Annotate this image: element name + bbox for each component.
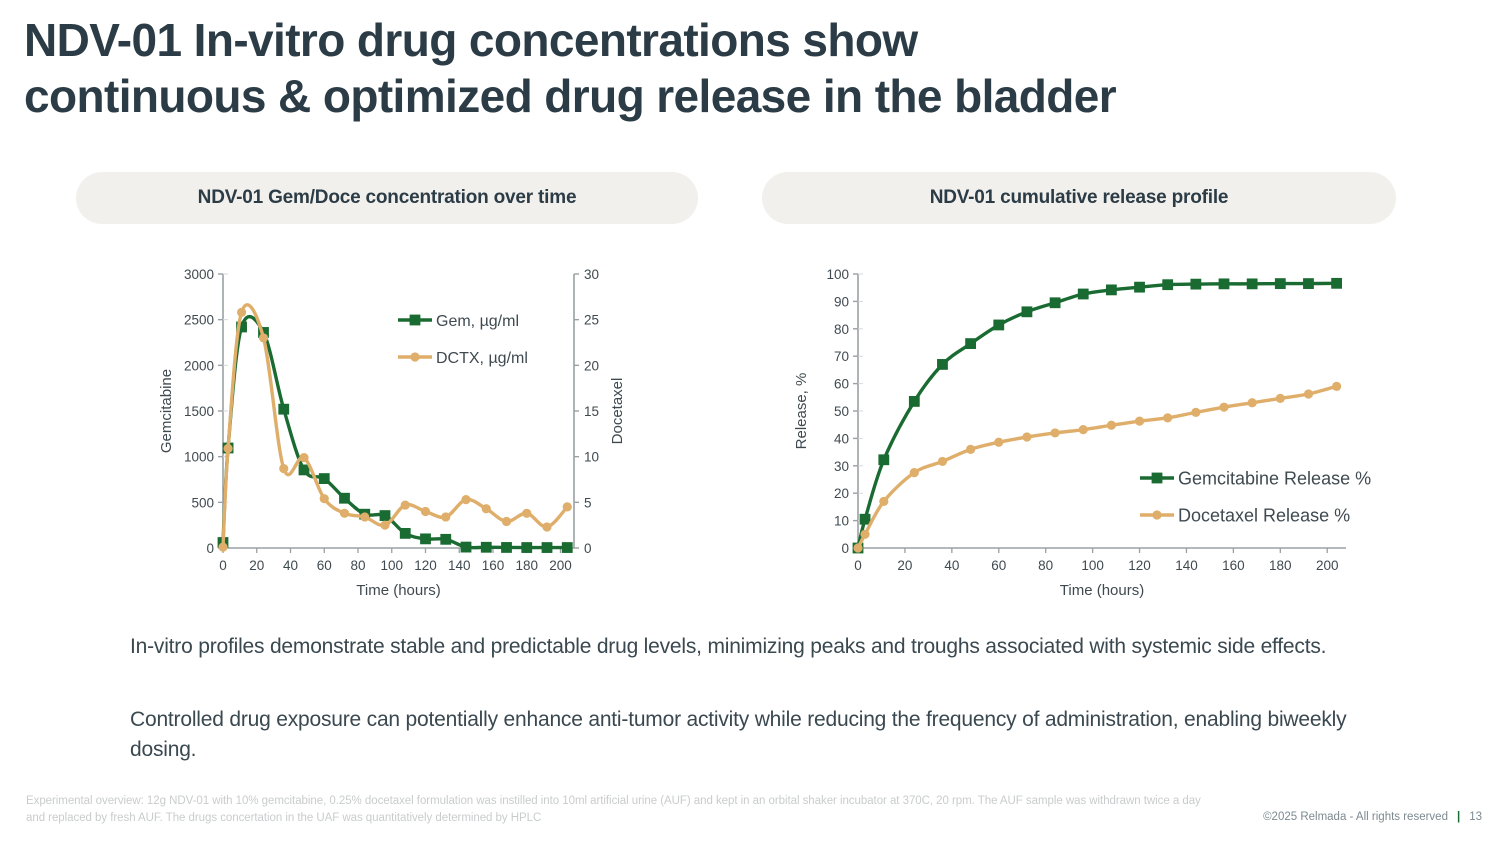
- legend-marker: [410, 352, 419, 361]
- x-tick-label: 180: [515, 558, 538, 573]
- data-point-marker: [279, 464, 288, 473]
- x-tick-label: 120: [414, 558, 437, 573]
- data-point-marker: [1163, 413, 1172, 422]
- legend-marker: [1152, 510, 1161, 519]
- data-point-marker: [563, 502, 572, 511]
- footer-separator: |: [1457, 811, 1460, 823]
- y-tick-label: 3000: [184, 267, 214, 282]
- chart-legend: Gemcitabine Release %Docetaxel Release %: [1140, 468, 1371, 525]
- footer-copyright: ©2025 Relmada - All rights reserved | 13: [1263, 811, 1482, 823]
- body-paragraph-2: Controlled drug exposure can potentially…: [130, 705, 1380, 765]
- y-tick-label: 50: [834, 404, 849, 419]
- y-tick-label: 60: [834, 377, 849, 392]
- data-point-marker: [860, 514, 871, 525]
- data-point-marker: [860, 530, 869, 539]
- x-tick-label: 180: [1269, 558, 1292, 573]
- data-point-marker: [1248, 398, 1257, 407]
- y-tick-label: 2500: [184, 313, 214, 328]
- data-point-marker: [441, 512, 450, 521]
- y-tick-label: 0: [206, 541, 214, 556]
- body-paragraph-1: In-vitro profiles demonstrate stable and…: [130, 632, 1380, 662]
- data-point-marker: [1247, 278, 1258, 289]
- data-point-marker: [878, 454, 889, 465]
- x-tick-label: 60: [991, 558, 1006, 573]
- x-tick-label: 40: [944, 558, 959, 573]
- data-point-marker: [360, 512, 369, 521]
- slide-root: NDV-01 In-vitro drug concentrations show…: [0, 0, 1500, 843]
- gem-doce-concentration-chart: 0500100015002000250030000510152025300204…: [76, 256, 698, 606]
- data-point-marker: [501, 542, 512, 553]
- right-chart-heading: NDV-01 cumulative release profile: [762, 172, 1396, 224]
- data-point-marker: [482, 504, 491, 513]
- y-axis-title: Gemcitabine: [158, 369, 175, 453]
- data-point-marker: [1050, 428, 1059, 437]
- data-point-marker: [380, 510, 391, 521]
- copyright-text: ©2025 Relmada - All rights reserved: [1263, 811, 1448, 823]
- right-chart-area: 0102030405060708090100020406080100120140…: [762, 256, 1396, 606]
- y-tick-label: 70: [834, 349, 849, 364]
- series-2: [218, 305, 571, 552]
- data-point-marker: [299, 453, 308, 462]
- legend-label: Gem, µg/ml: [436, 313, 519, 330]
- data-point-marker: [1219, 278, 1230, 289]
- right-chart-panel: NDV-01 cumulative release profile 010203…: [762, 172, 1396, 606]
- page-title-line-2: continuous & optimized drug release in t…: [24, 70, 1116, 122]
- y-tick-label: 40: [834, 431, 849, 446]
- x-tick-label: 100: [1081, 558, 1104, 573]
- data-point-marker: [1276, 394, 1285, 403]
- left-chart-heading: NDV-01 Gem/Doce concentration over time: [76, 172, 698, 224]
- data-point-marker: [319, 473, 330, 484]
- data-point-marker: [938, 457, 947, 466]
- x-tick-label: 0: [854, 558, 862, 573]
- y-axis-title: Release, %: [793, 373, 810, 450]
- legend-label: DCTX, µg/ml: [436, 350, 528, 367]
- left-chart-area: 0500100015002000250030000510152025300204…: [76, 256, 698, 606]
- x-tick-label: 20: [897, 558, 912, 573]
- page-title-line-1: NDV-01 In-vitro drug concentrations show: [24, 14, 918, 66]
- data-point-marker: [461, 495, 470, 504]
- page-number: 13: [1469, 811, 1482, 823]
- y2-tick-label: 30: [584, 267, 599, 282]
- series-2: [853, 382, 1341, 553]
- y-tick-label: 1000: [184, 450, 214, 465]
- data-point-marker: [380, 521, 389, 530]
- y-tick-label: 10: [834, 514, 849, 529]
- y-tick-label: 1500: [184, 404, 214, 419]
- legend-marker: [1152, 473, 1163, 484]
- data-point-marker: [421, 507, 430, 516]
- data-point-marker: [853, 543, 862, 552]
- y-tick-label: 100: [826, 267, 849, 282]
- data-point-marker: [909, 396, 920, 407]
- series-line: [223, 305, 567, 547]
- data-point-marker: [237, 308, 246, 317]
- data-point-marker: [994, 438, 1003, 447]
- data-point-marker: [542, 542, 553, 553]
- data-point-marker: [1162, 279, 1173, 290]
- data-point-marker: [522, 509, 531, 518]
- x-tick-label: 140: [448, 558, 471, 573]
- chart-legend: Gem, µg/mlDCTX, µg/ml: [398, 313, 528, 367]
- y2-tick-label: 0: [584, 541, 592, 556]
- data-point-marker: [1275, 278, 1286, 289]
- data-point-marker: [320, 494, 329, 503]
- y2-tick-label: 15: [584, 404, 599, 419]
- data-point-marker: [879, 497, 888, 506]
- experimental-footnote: Experimental overview: 12g NDV-01 with 1…: [26, 793, 1216, 826]
- data-point-marker: [1134, 282, 1145, 293]
- data-point-marker: [481, 542, 492, 553]
- data-point-marker: [521, 542, 532, 553]
- y-tick-label: 30: [834, 459, 849, 474]
- y2-axis-title: Docetaxel: [609, 378, 626, 445]
- legend-label: Docetaxel Release %: [1178, 505, 1350, 525]
- y-tick-label: 500: [191, 495, 214, 510]
- data-point-marker: [1022, 432, 1031, 441]
- x-axis-title: Time (hours): [1060, 582, 1144, 599]
- data-point-marker: [1022, 306, 1033, 317]
- x-tick-label: 160: [482, 558, 505, 573]
- data-point-marker: [259, 333, 268, 342]
- data-point-marker: [461, 542, 472, 553]
- y2-tick-label: 5: [584, 495, 592, 510]
- data-point-marker: [223, 444, 232, 453]
- data-point-marker: [218, 542, 227, 551]
- data-point-marker: [1332, 382, 1341, 391]
- x-tick-label: 200: [549, 558, 572, 573]
- x-tick-label: 100: [380, 558, 403, 573]
- data-point-marker: [1078, 289, 1089, 300]
- y-tick-label: 0: [841, 541, 849, 556]
- data-point-marker: [1107, 421, 1116, 430]
- data-point-marker: [1191, 408, 1200, 417]
- data-point-marker: [420, 533, 431, 544]
- data-point-marker: [1079, 425, 1088, 434]
- data-point-marker: [993, 320, 1004, 331]
- x-tick-label: 40: [283, 558, 298, 573]
- y-tick-label: 2000: [184, 358, 214, 373]
- x-tick-label: 140: [1175, 558, 1198, 573]
- left-chart-panel: NDV-01 Gem/Doce concentration over time …: [76, 172, 698, 606]
- data-point-marker: [502, 517, 511, 526]
- data-point-marker: [965, 338, 976, 349]
- data-point-marker: [1135, 417, 1144, 426]
- y-tick-label: 90: [834, 294, 849, 309]
- cumulative-release-chart: 0102030405060708090100020406080100120140…: [762, 256, 1396, 606]
- data-point-marker: [966, 445, 975, 454]
- data-point-marker: [1304, 389, 1313, 398]
- data-point-marker: [910, 468, 919, 477]
- data-point-marker: [562, 542, 573, 553]
- data-point-marker: [278, 404, 289, 415]
- x-tick-label: 60: [317, 558, 332, 573]
- data-point-marker: [542, 522, 551, 531]
- legend-marker: [410, 315, 421, 326]
- y-tick-label: 80: [834, 322, 849, 337]
- data-point-marker: [339, 493, 350, 504]
- legend-label: Gemcitabine Release %: [1178, 468, 1371, 488]
- data-point-marker: [1331, 278, 1342, 289]
- x-tick-label: 20: [249, 558, 264, 573]
- y-tick-label: 20: [834, 486, 849, 501]
- y2-tick-label: 10: [584, 450, 599, 465]
- data-point-marker: [401, 500, 410, 509]
- x-tick-label: 0: [219, 558, 227, 573]
- data-point-marker: [937, 359, 948, 370]
- y2-tick-label: 25: [584, 313, 599, 328]
- x-tick-label: 120: [1128, 558, 1151, 573]
- x-tick-label: 80: [350, 558, 365, 573]
- x-tick-label: 160: [1222, 558, 1245, 573]
- data-point-marker: [1050, 297, 1061, 308]
- data-point-marker: [1190, 279, 1201, 290]
- data-point-marker: [400, 528, 411, 539]
- x-tick-label: 80: [1038, 558, 1053, 573]
- x-tick-label: 200: [1316, 558, 1339, 573]
- data-point-marker: [1219, 403, 1228, 412]
- data-point-marker: [340, 509, 349, 518]
- y2-tick-label: 20: [584, 358, 599, 373]
- page-title: NDV-01 In-vitro drug concentrations show…: [24, 12, 1474, 124]
- data-point-marker: [1106, 284, 1117, 295]
- x-axis-title: Time (hours): [356, 582, 440, 599]
- data-point-marker: [1303, 278, 1314, 289]
- data-point-marker: [440, 534, 451, 545]
